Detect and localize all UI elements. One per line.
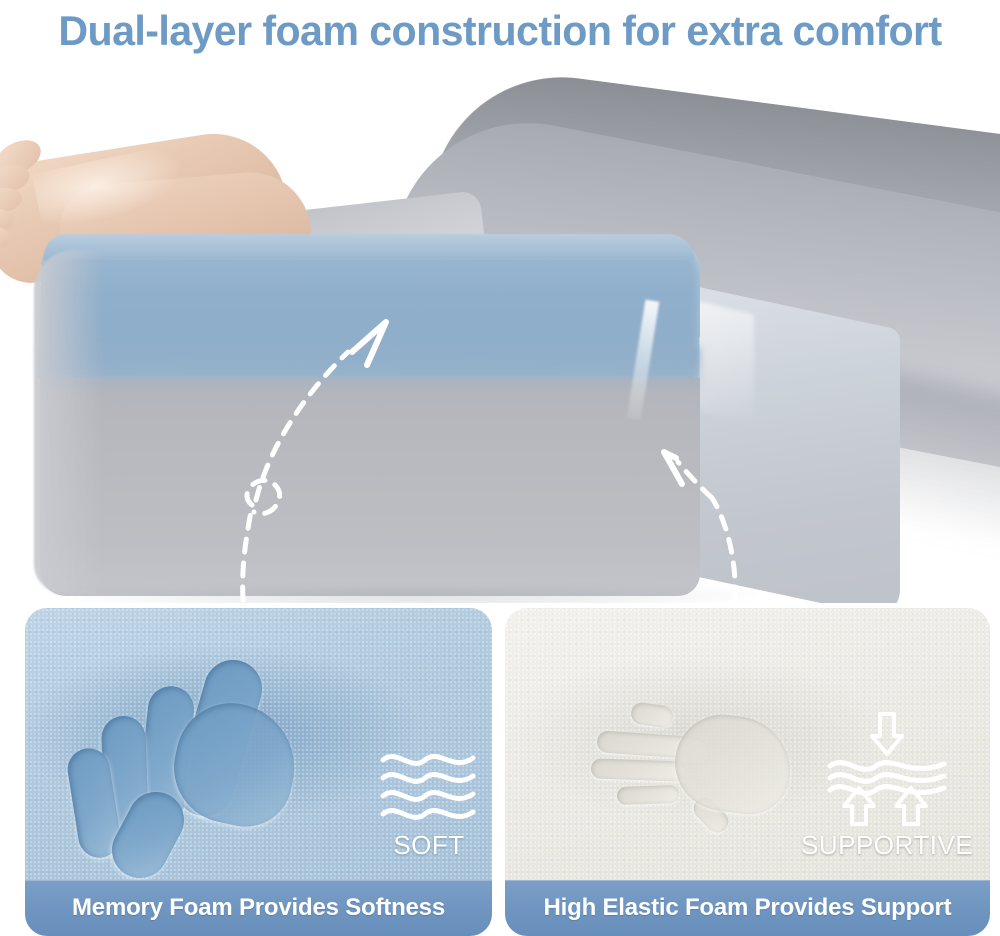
high-elastic-foam-white-layer — [40, 378, 700, 596]
arrow-down-icon — [872, 714, 902, 754]
supportive-waves-icon: SUPPORTIVE — [801, 710, 973, 861]
wedge-drop-shadow — [60, 590, 760, 603]
hero-photo — [0, 58, 1000, 603]
soft-waves-icon: SOFT — [377, 744, 481, 861]
wedge-top-edge — [44, 234, 694, 260]
white-elastic-foam-surface: SUPPORTIVE — [505, 608, 990, 880]
supportive-arrows-and-waves — [812, 710, 962, 830]
product-feature-image: Dual-layer foam construction for extra c… — [0, 0, 1000, 936]
high-elastic-foam-banner: High Elastic Foam Provides Support — [505, 880, 990, 936]
memory-foam-banner-text: Memory Foam Provides Softness — [72, 894, 445, 922]
soft-wave-lines — [377, 744, 481, 830]
high-elastic-foam-banner-text: High Elastic Foam Provides Support — [544, 894, 952, 922]
soft-label: SOFT — [393, 830, 464, 861]
card-high-elastic-foam: SUPPORTIVE High Elastic Foam Provides Su… — [505, 608, 990, 936]
page-title: Dual-layer foam construction for extra c… — [10, 2, 990, 60]
memory-foam-photo: SOFT — [25, 608, 492, 880]
high-elastic-foam-photo: SUPPORTIVE — [505, 608, 990, 880]
layer-transition — [40, 348, 700, 392]
supportive-label: SUPPORTIVE — [801, 830, 973, 861]
blue-memory-foam-surface: SOFT — [25, 608, 492, 880]
memory-foam-banner: Memory Foam Provides Softness — [25, 880, 492, 936]
card-memory-foam: SOFT Memory Foam Provides Softness — [25, 608, 492, 936]
wedge-pillow — [0, 238, 820, 603]
wedge-left-corner — [34, 250, 104, 594]
